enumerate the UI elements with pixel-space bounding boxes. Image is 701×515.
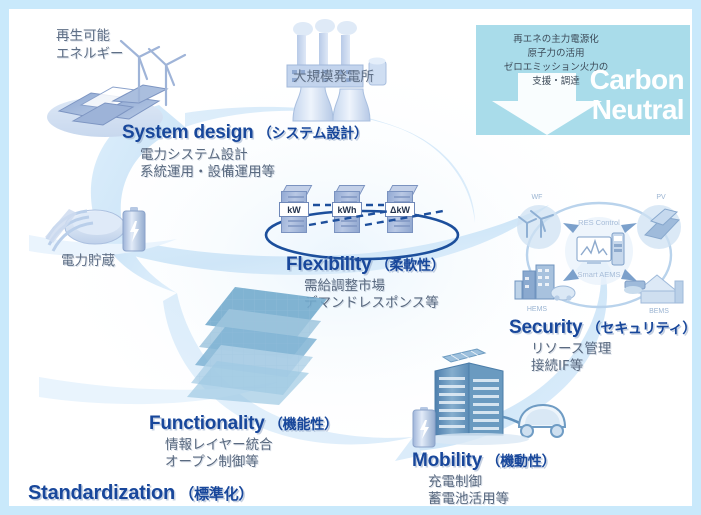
pillar-en-label: Standardization bbox=[28, 482, 175, 504]
pillar-en-label: Mobility bbox=[412, 450, 482, 471]
pillar-en-label: Flexibility bbox=[286, 254, 371, 275]
node-label-res-control: RES Control bbox=[578, 218, 620, 227]
storage-label: 電力貯蔵 bbox=[61, 253, 115, 269]
pillar-jp-label: （標準化） bbox=[179, 485, 253, 503]
pillar-jp-label: （システム設計） bbox=[258, 126, 368, 142]
node-hems bbox=[515, 265, 575, 301]
node-label-wf: WF bbox=[532, 194, 543, 201]
pillar-heading-functionality: Functionality （機能性） bbox=[149, 413, 338, 435]
node-label-bems: BEMS bbox=[649, 308, 669, 315]
pillar-en-label: Security bbox=[509, 317, 582, 338]
pillar-heading-mobility: Mobility （機動性） bbox=[412, 450, 555, 472]
pillar-sub-system-design: 電力システム設計 系統運用・設備運用等 bbox=[140, 147, 275, 180]
node-smart-aems bbox=[577, 233, 624, 265]
pillar-en-label: System design bbox=[122, 122, 254, 143]
pillar-sub-mobility: 充電制御 蓄電池活用等 bbox=[428, 474, 509, 506]
node-label-pv: PV bbox=[656, 194, 666, 201]
pillar-heading-flexibility: Flexibility （柔軟性） bbox=[286, 254, 445, 276]
diagram-root: 再生可能 エネルギー bbox=[0, 0, 701, 515]
node-wf bbox=[517, 205, 561, 249]
pillar-heading-standardization: Standardization （標準化） bbox=[28, 482, 253, 505]
server-label: kW bbox=[279, 202, 309, 217]
layer-stack-icon bbox=[177, 277, 357, 407]
pillar-en-label: Functionality bbox=[149, 413, 265, 434]
pillar-jp-label: （機能性） bbox=[269, 417, 338, 433]
pillar-jp-label: （機動性） bbox=[486, 454, 555, 470]
node-pv bbox=[637, 205, 681, 249]
pillar-jp-label: （柔軟性） bbox=[376, 258, 445, 274]
server-delta-kw: ΔkW bbox=[384, 185, 414, 231]
battery-icon bbox=[121, 207, 147, 253]
node-label-hems: HEMS bbox=[527, 306, 548, 313]
server-label: kWh bbox=[332, 202, 362, 217]
power-plant-label: 大規模発電所 bbox=[293, 69, 374, 85]
node-label-smart-aems: Smart AEMS bbox=[578, 270, 621, 279]
pumped-storage-icon bbox=[43, 197, 133, 257]
battery-icon-mobility bbox=[412, 407, 436, 449]
carbon-neutral-panel: 再エネの主力電源化 原子力の活用 ゼロエミッション火力の 支援・調達 Carbo… bbox=[476, 25, 690, 135]
renewable-energy-label: 再生可能 エネルギー bbox=[56, 27, 124, 63]
pillar-jp-label: （セキュリティ） bbox=[587, 321, 692, 337]
diagram-canvas: 再生可能 エネルギー bbox=[9, 9, 692, 506]
carbon-neutral-title: Carbon Neutral bbox=[590, 65, 684, 125]
pillar-heading-system-design: System design （システム設計） bbox=[122, 122, 368, 144]
pillar-sub-functionality: 情報レイヤー統合 オープン制御等 bbox=[165, 437, 273, 470]
server-kwh: kWh bbox=[331, 185, 361, 231]
pillar-heading-security: Security （セキュリティ） bbox=[509, 317, 692, 339]
security-network-icon: WF PV RES Control Sma bbox=[507, 189, 692, 319]
server-label: ΔkW bbox=[385, 202, 415, 217]
server-kw: kW bbox=[278, 185, 308, 231]
